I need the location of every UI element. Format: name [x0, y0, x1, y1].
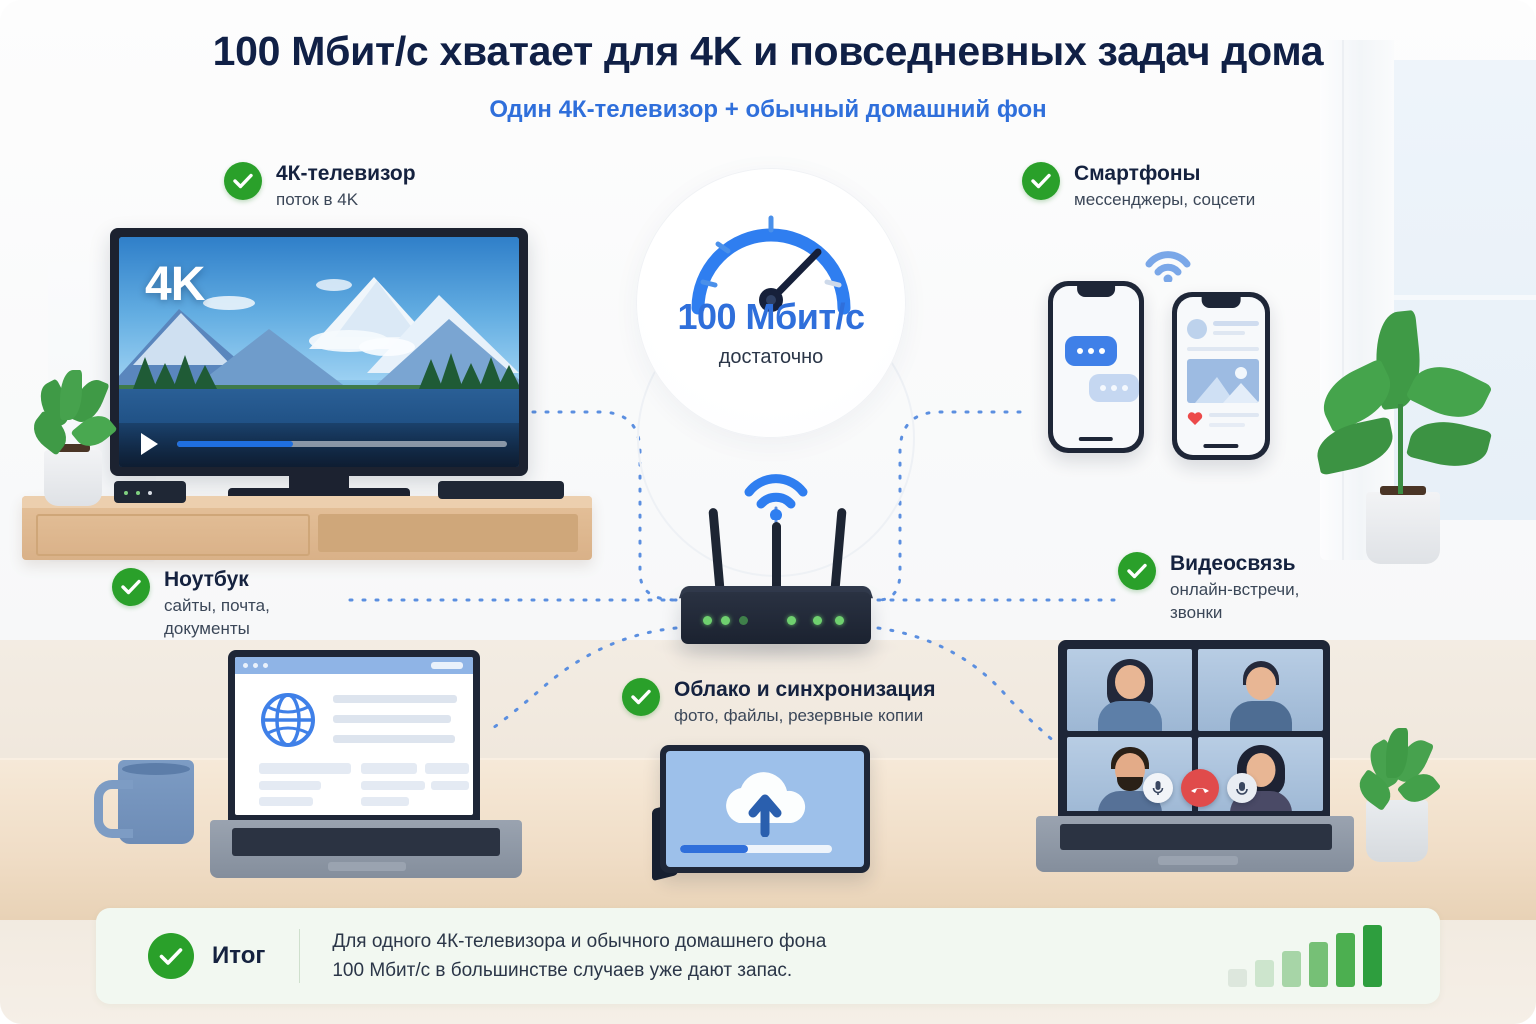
video-call-screen — [1065, 647, 1323, 811]
phone-messaging — [1048, 281, 1144, 453]
check-icon-phones — [1022, 162, 1060, 200]
coffee-mug — [118, 760, 194, 844]
participant-tile-4 — [1198, 737, 1323, 811]
check-icon-laptop — [112, 568, 150, 606]
tv-4k-badge: 4K — [145, 257, 204, 312]
play-icon[interactable] — [141, 433, 158, 455]
feature-laptop: Ноутбук сайты, почта, документы — [112, 568, 304, 640]
check-icon-summary — [148, 933, 194, 979]
speed-gauge: 100 Мбит/с достаточно — [636, 168, 906, 438]
signal-bar-3 — [1282, 951, 1301, 987]
end-call-button[interactable] — [1181, 769, 1219, 807]
tv-device: 4K — [110, 228, 528, 476]
check-icon-cloud — [622, 678, 660, 716]
summary-text: Для одного 4К-телевизора и обычного дома… — [332, 927, 1228, 986]
check-icon-video — [1118, 552, 1156, 590]
camera-button[interactable] — [1227, 773, 1257, 803]
signal-bar-5 — [1336, 933, 1355, 987]
tv-screen: 4K — [119, 237, 519, 467]
infographic-canvas: 100 Мбит/с хватает для 4K и повседневных… — [0, 0, 1536, 1024]
participant-tile-2 — [1198, 649, 1323, 731]
mic-button[interactable] — [1143, 773, 1173, 803]
tablet-screen — [666, 751, 864, 867]
signal-bar-4 — [1309, 942, 1328, 987]
wifi-icon — [741, 470, 811, 520]
summary-bar: Итог Для одного 4К-телевизора и обычного… — [96, 908, 1440, 1004]
gauge-value: 100 Мбит/с — [636, 296, 906, 338]
feature-cloud-desc: фото, файлы, резервные копии — [674, 705, 936, 727]
signal-bar-6 — [1363, 925, 1382, 987]
tablet-progress-track[interactable] — [680, 845, 832, 853]
participant-tile-3 — [1067, 737, 1192, 811]
wifi-icon-phones — [1143, 248, 1193, 282]
tablet-progress-fill — [680, 845, 748, 853]
tv-stand — [22, 496, 592, 560]
page-title: 100 Мбит/с хватает для 4K и повседневных… — [0, 28, 1536, 75]
browser-window — [235, 657, 473, 815]
page-subtitle: Один 4К-телевизор + обычный домашний фон — [0, 96, 1536, 124]
feature-cloud: Облако и синхронизация фото, файлы, резе… — [622, 678, 936, 728]
browser-chrome — [235, 657, 473, 674]
tablet-device — [660, 745, 870, 873]
check-icon-tv — [224, 162, 262, 200]
soundbar — [438, 481, 564, 499]
participant-tile-1 — [1067, 649, 1192, 731]
laptop-video-lid — [1058, 640, 1330, 818]
feature-tv-desc: поток в 4K — [276, 189, 416, 211]
laptop-work-lid — [228, 650, 480, 822]
heart-icon[interactable] — [1187, 411, 1203, 426]
router-antenna-center — [772, 522, 781, 594]
laptop-work-base — [210, 820, 522, 878]
signal-bar-2 — [1255, 960, 1274, 987]
gauge-status: достаточно — [636, 346, 906, 369]
feature-tv-title: 4К-телевизор — [276, 162, 416, 186]
set-top-box — [114, 481, 186, 503]
laptop-video-base — [1036, 816, 1354, 872]
tv-progress-track[interactable] — [177, 441, 507, 447]
feature-video-title: Видеосвязь — [1170, 552, 1322, 576]
router-device — [681, 592, 871, 644]
summary-line-2: 100 Мбит/с в большинстве случаев уже даю… — [332, 956, 1228, 985]
signal-strength-bars — [1228, 925, 1382, 987]
chat-bubble-incoming — [1065, 336, 1117, 366]
tv-progress-fill — [177, 441, 293, 447]
feature-video: Видеосвязь онлайн-встречи, звонки — [1118, 552, 1322, 624]
feature-cloud-title: Облако и синхронизация — [674, 678, 936, 702]
gauge-tick-r — [827, 282, 839, 285]
summary-badge-label: Итог — [212, 942, 265, 970]
cloud-upload-icon — [713, 771, 817, 837]
summary-line-1: Для одного 4К-телевизора и обычного дома… — [332, 927, 1228, 956]
phone-social — [1172, 292, 1270, 460]
photo-placeholder — [1187, 359, 1259, 403]
feature-phones-title: Смартфоны — [1074, 162, 1255, 186]
feature-tv: 4К-телевизор поток в 4K — [224, 162, 416, 212]
feature-video-desc: онлайн-встречи, звонки — [1170, 579, 1322, 624]
globe-icon — [259, 691, 317, 749]
summary-divider — [299, 929, 300, 983]
gauge-tick-l — [703, 282, 715, 285]
chat-bubble-outgoing — [1089, 374, 1139, 402]
feature-laptop-title: Ноутбук — [164, 568, 304, 592]
signal-bar-1 — [1228, 969, 1247, 987]
feature-phones-desc: мессенджеры, соцсети — [1074, 189, 1255, 211]
feature-laptop-desc: сайты, почта, документы — [164, 595, 304, 640]
feature-phones: Смартфоны мессенджеры, соцсети — [1022, 162, 1255, 212]
